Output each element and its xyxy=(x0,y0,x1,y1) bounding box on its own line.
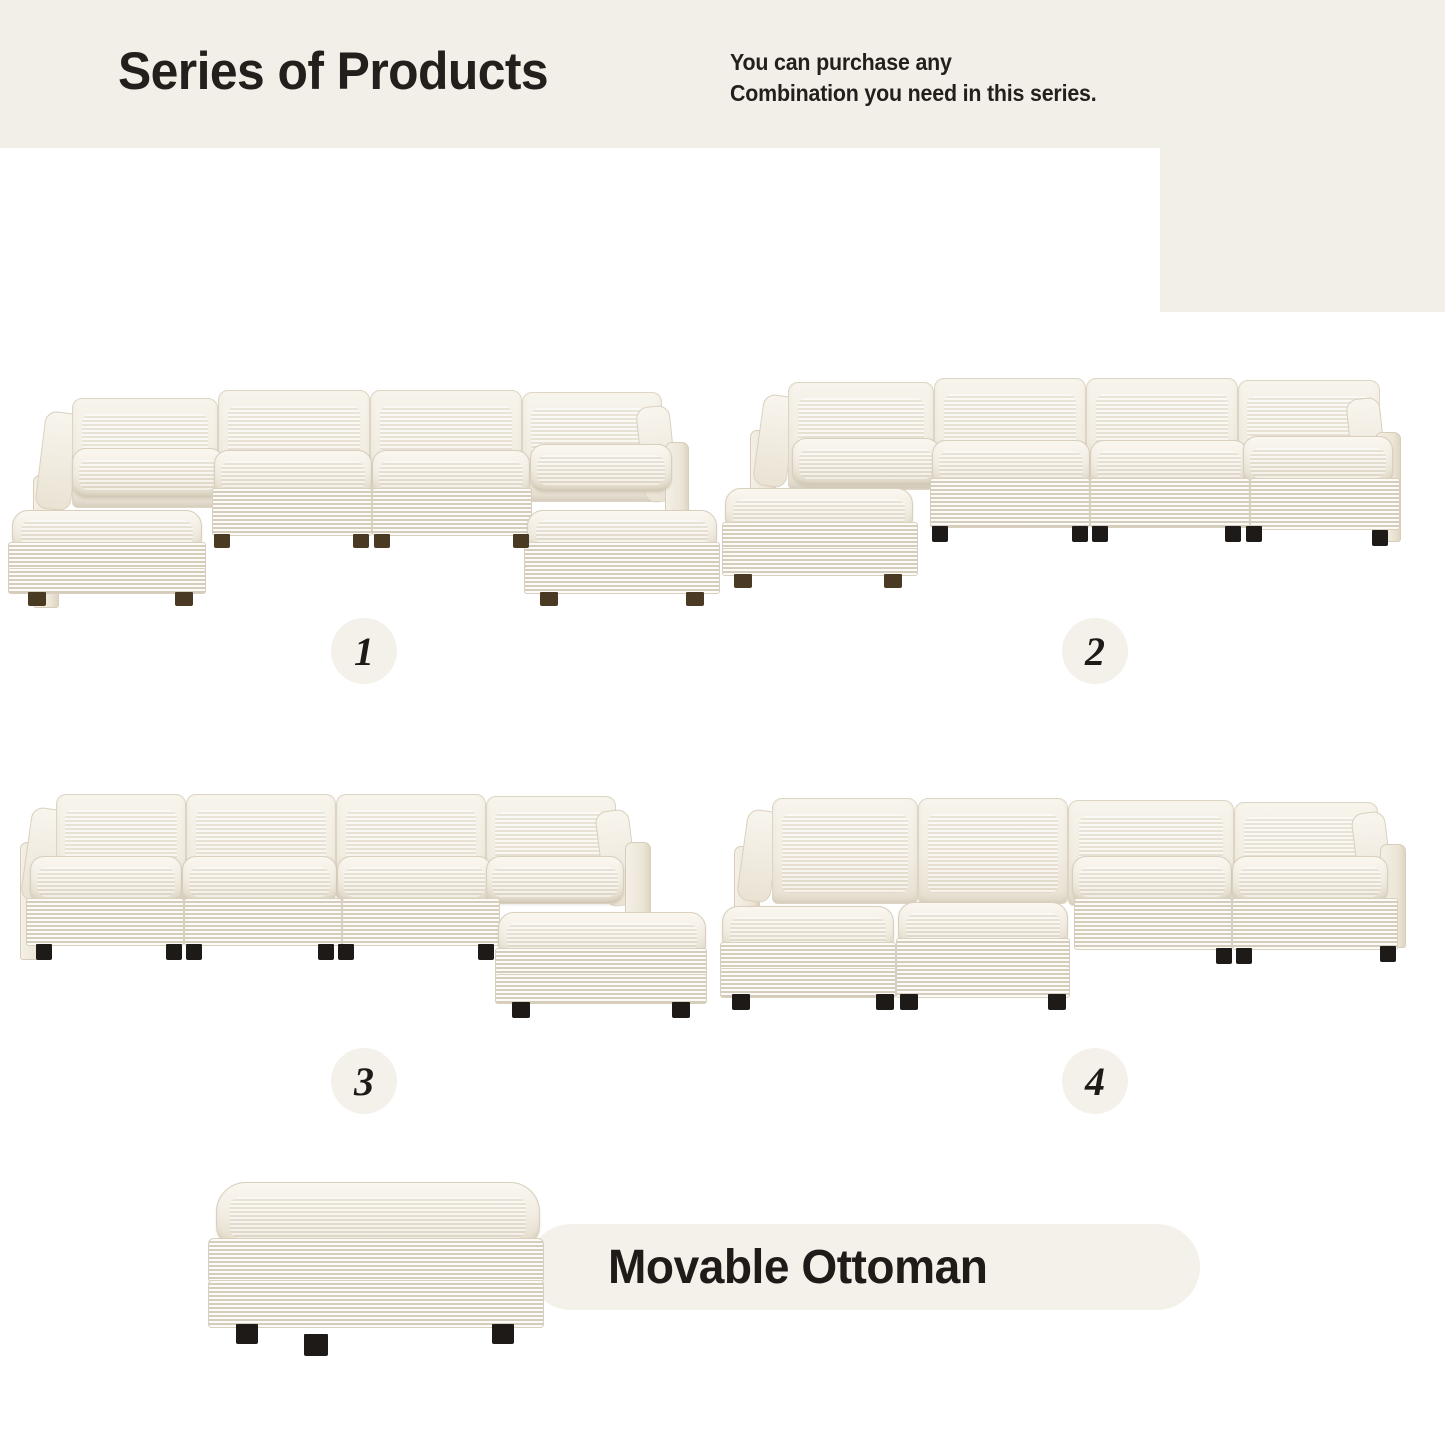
seat-cushion xyxy=(30,856,182,904)
page-subtitle-line-1: You can purchase any xyxy=(730,47,1097,78)
configuration-badge-1[interactable]: 1 xyxy=(331,618,397,684)
sofa-configuration-2[interactable] xyxy=(720,370,1445,600)
sofa-foot xyxy=(732,994,750,1010)
configuration-badge-4[interactable]: 4 xyxy=(1062,1048,1128,1114)
seat-base xyxy=(184,898,342,946)
ottoman-plinth xyxy=(8,568,206,594)
ottoman-plinth xyxy=(722,548,918,576)
seat-base xyxy=(372,488,532,536)
seat-base xyxy=(930,478,1090,528)
ottoman-foot xyxy=(492,1324,514,1344)
seat-cushion xyxy=(72,448,224,498)
sofa-foot xyxy=(1072,526,1088,542)
sofa-foot xyxy=(1236,948,1252,964)
ottoman-plinth xyxy=(896,966,1070,998)
seat-cushion xyxy=(486,856,624,904)
sofa-foot xyxy=(186,944,202,960)
sofa-foot xyxy=(513,534,529,548)
sofa-configuration-3[interactable] xyxy=(0,780,720,1020)
page-title: Series of Products xyxy=(118,40,548,104)
seat-base xyxy=(1090,478,1250,528)
configuration-badge-2[interactable]: 2 xyxy=(1062,618,1128,684)
sofa-foot xyxy=(36,944,52,960)
configuration-badge-3[interactable]: 3 xyxy=(331,1048,397,1114)
ottoman-plinth xyxy=(495,974,707,1004)
sofa-foot xyxy=(214,534,230,548)
sofa-illustration-4 xyxy=(720,780,1445,1020)
movable-ottoman-label: Movable Ottoman xyxy=(608,1240,987,1295)
sofa-foot xyxy=(686,592,704,606)
movable-ottoman-banner: Movable Ottoman xyxy=(528,1224,1200,1310)
sofa-configuration-1[interactable] xyxy=(0,370,720,600)
sofa-foot xyxy=(1092,526,1108,542)
sofa-foot xyxy=(28,592,46,606)
seat-base xyxy=(26,898,184,946)
movable-ottoman-illustration[interactable] xyxy=(200,1182,580,1372)
seat-base xyxy=(342,898,500,946)
seat-cushion xyxy=(1072,856,1232,904)
sofa-foot xyxy=(166,944,182,960)
sofa-foot xyxy=(1372,530,1388,546)
sofa-foot xyxy=(374,534,390,548)
ottoman-plinth xyxy=(524,566,720,594)
seat-base xyxy=(1250,478,1400,530)
seat-cushion xyxy=(337,856,492,904)
sofa-foot xyxy=(512,1002,530,1018)
sofa-foot xyxy=(540,592,558,606)
ottoman-foot xyxy=(236,1324,258,1344)
sofa-illustration-2 xyxy=(720,370,1445,600)
sofa-configuration-4[interactable] xyxy=(720,780,1445,1020)
ottoman-foot xyxy=(304,1334,328,1356)
seat-base xyxy=(212,488,372,536)
sofa-foot xyxy=(1225,526,1241,542)
sofa-foot xyxy=(1380,946,1396,962)
sofa-foot xyxy=(353,534,369,548)
sofa-illustration-1 xyxy=(0,370,720,600)
seat-cushion xyxy=(1232,856,1388,904)
ottoman-plinth xyxy=(208,1280,544,1328)
sofa-foot xyxy=(884,574,902,588)
seat-cushion xyxy=(792,438,940,486)
back-cushion xyxy=(772,798,918,904)
ottoman-base xyxy=(208,1238,544,1284)
sofa-foot xyxy=(478,944,494,960)
seat-base xyxy=(1074,898,1232,950)
sofa-foot xyxy=(672,1002,690,1018)
sofa-foot xyxy=(876,994,894,1010)
back-cushion xyxy=(918,798,1068,904)
sofa-foot xyxy=(338,944,354,960)
sofa-illustration-3 xyxy=(0,780,720,1020)
sofa-foot xyxy=(318,944,334,960)
sofa-foot xyxy=(734,574,752,588)
seat-cushion xyxy=(182,856,337,904)
sofa-foot xyxy=(932,526,948,542)
sofa-foot xyxy=(175,592,193,606)
sofa-foot xyxy=(1216,948,1232,964)
infographic-stage: Series of Products You can purchase any … xyxy=(0,0,1445,1445)
page-subtitle-line-2: Combination you need in this series. xyxy=(730,78,1097,109)
sofa-foot xyxy=(1246,526,1262,542)
sofa-foot xyxy=(900,994,918,1010)
seat-cushion xyxy=(530,444,672,492)
seat-base xyxy=(1232,898,1398,950)
page-subtitle: You can purchase any Combination you nee… xyxy=(730,47,1097,109)
sofa-foot xyxy=(1048,994,1066,1010)
